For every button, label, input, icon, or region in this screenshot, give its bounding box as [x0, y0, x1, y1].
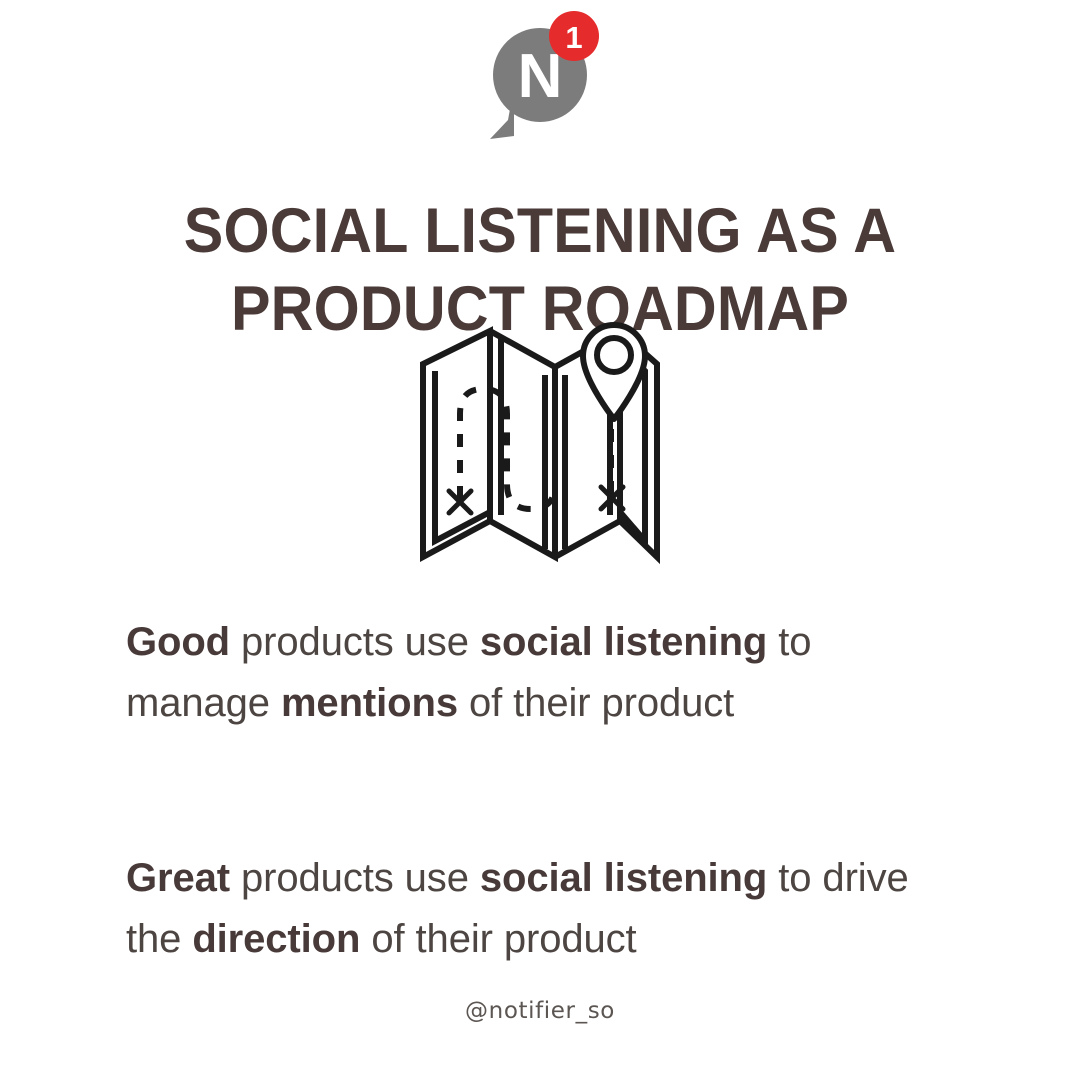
text-segment: mentions [281, 681, 458, 725]
paragraph-good-products: Good products use social listening to ma… [126, 612, 956, 734]
post-canvas: N 1 SOCIAL LISTENING AS A PRODUCT ROADMA… [0, 0, 1080, 1080]
dashed-route-path-left [460, 389, 555, 509]
text-segment: social listening [480, 856, 767, 900]
text-segment: of their product [360, 917, 636, 961]
map-panel-left-inner [435, 371, 490, 541]
social-handle: @notifier_so [0, 998, 1080, 1024]
text-segment: direction [192, 917, 360, 961]
folded-map-with-route-and-pin-icon [415, 309, 665, 571]
notification-count-value: 1 [565, 20, 582, 55]
paragraph-great-products: Great products use social listening to d… [126, 848, 956, 970]
text-segment: products use [230, 856, 480, 900]
text-segment: products use [230, 620, 480, 664]
text-segment: social listening [480, 620, 767, 664]
text-segment: Great [126, 856, 230, 900]
page-title-line-1: SOCIAL LISTENING AS A [32, 192, 1047, 270]
text-segment: of their product [458, 681, 734, 725]
text-segment: Good [126, 620, 230, 664]
map-illustration [0, 305, 1080, 575]
body-copy: Good products use social listening to ma… [126, 612, 956, 970]
location-pin-hole [597, 338, 631, 372]
notifier-speech-bubble-logo: N 1 [470, 8, 610, 148]
brand-logo: N 1 [0, 8, 1080, 148]
